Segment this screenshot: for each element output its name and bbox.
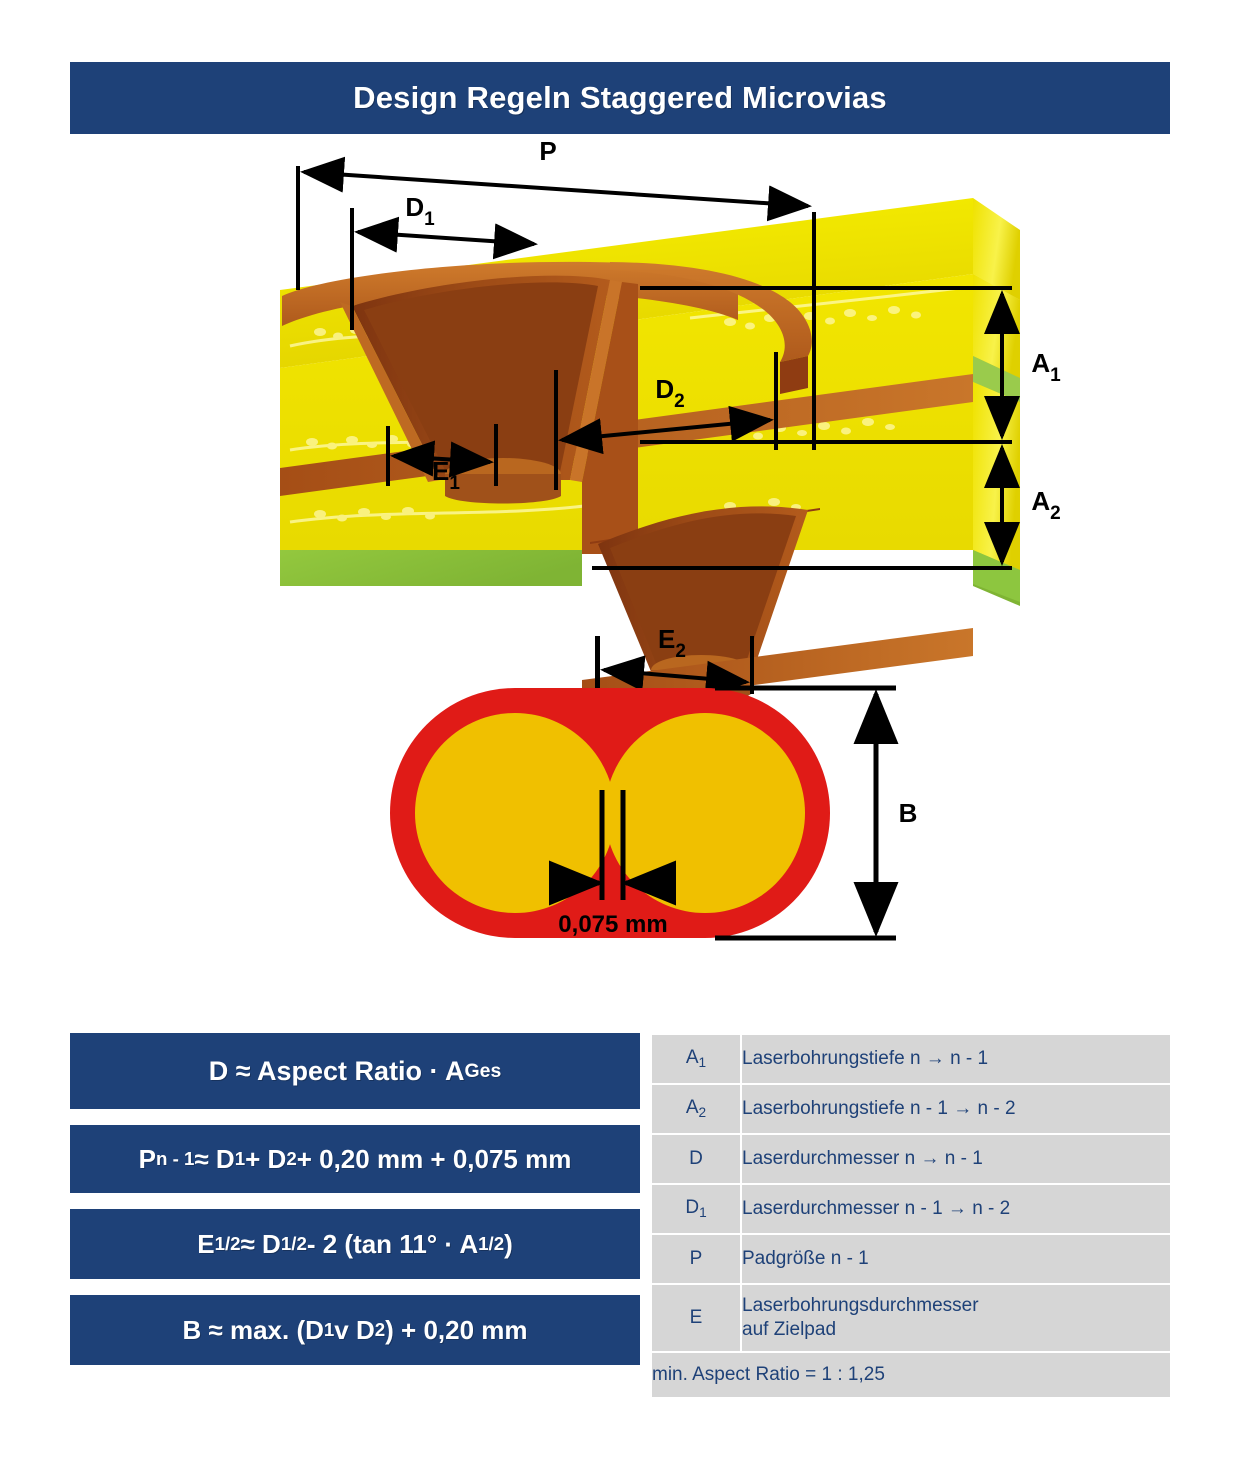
legend-description: Laserbohrungsdurchmesserauf Zielpad	[742, 1285, 1170, 1351]
page-title: Design Regeln Staggered Microvias	[353, 80, 887, 116]
svg-text:D1: D1	[405, 192, 435, 230]
formula-p: Pn - 1 ≈ D1 + D2 + 0,20 mm + 0,075 mm	[70, 1125, 640, 1193]
legend-description: Laserdurchmesser n - 1 → n - 2	[742, 1185, 1170, 1233]
formula-subscript: 1/2	[215, 1233, 241, 1255]
label-A1: A	[1031, 348, 1050, 378]
legend-description: Laserdurchmesser n → n - 1	[742, 1135, 1170, 1183]
formula-subscript: 1/2	[281, 1233, 307, 1255]
formula-subscript: 2	[286, 1148, 296, 1170]
label-A2: A	[1031, 486, 1050, 516]
legend-table: A1Laserbohrungstiefe n → n - 1A2Laserboh…	[652, 1033, 1170, 1399]
legend-footer-row: min. Aspect Ratio = 1 : 1,25	[652, 1353, 1170, 1397]
formula-subscript: 2	[375, 1319, 385, 1341]
legend-symbol-subscript: 1	[699, 1206, 707, 1221]
formula-subscript: n - 1	[156, 1148, 194, 1170]
label-A2-sub: 2	[1050, 503, 1061, 524]
label-D2: D	[655, 374, 674, 404]
legend-symbol: P	[652, 1235, 742, 1283]
legend-symbol: E	[652, 1285, 742, 1351]
label-D1-sub: 1	[424, 209, 435, 230]
legend-description: Laserbohrungstiefe n - 1 → n - 2	[742, 1085, 1170, 1133]
legend-table-body: A1Laserbohrungstiefe n → n - 1A2Laserboh…	[652, 1035, 1170, 1397]
label-B: B	[899, 798, 918, 828]
legend-footer: min. Aspect Ratio = 1 : 1,25	[652, 1353, 1170, 1397]
legend-symbol-subscript: 2	[699, 1106, 707, 1121]
legend-row: A2Laserbohrungstiefe n - 1 → n - 2	[652, 1085, 1170, 1133]
legend-symbol: D1	[652, 1185, 742, 1233]
formula-subscript: 1	[324, 1319, 334, 1341]
formula-d: D ≈ Aspect Ratio · AGes	[70, 1033, 640, 1109]
label-E2-sub: 2	[675, 641, 686, 662]
formula-subscript: Ges	[465, 1060, 502, 1083]
label-E1: E	[432, 456, 449, 486]
legend-row: DLaserdurchmesser n → n - 1	[652, 1135, 1170, 1183]
legend-symbol: A1	[652, 1035, 742, 1083]
formula-b: B ≈ max. (D1 v D2) + 0,20 mm	[70, 1295, 640, 1365]
legend-symbol-subscript: 1	[699, 1056, 707, 1071]
label-gap: 0,075 mm	[558, 911, 667, 938]
label-P: P	[539, 136, 556, 166]
legend-row: ELaserbohrungsdurchmesserauf Zielpad	[652, 1285, 1170, 1351]
formula-column: D ≈ Aspect Ratio · AGes Pn - 1 ≈ D1 + D2…	[70, 1033, 640, 1365]
legend-row: PPadgröße n - 1	[652, 1235, 1170, 1283]
legend-row: D1Laserdurchmesser n - 1 → n - 2	[652, 1185, 1170, 1233]
label-D2-sub: 2	[674, 391, 685, 412]
legend-description: Laserbohrungstiefe n → n - 1	[742, 1035, 1170, 1083]
legend-symbol: D	[652, 1135, 742, 1183]
staggered-microvia-3d-figure: P D1 D2 E1	[260, 150, 1080, 640]
formula-subscript: 1	[235, 1148, 245, 1170]
label-A1-sub: 1	[1050, 365, 1061, 386]
label-E1-sub: 1	[449, 473, 460, 494]
board-right-perspective-edge	[973, 198, 1020, 602]
legend-description: Padgröße n - 1	[742, 1235, 1170, 1283]
header-bar: Design Regeln Staggered Microvias	[70, 62, 1170, 134]
label-E2: E	[658, 624, 675, 654]
formula-e: E1/2 ≈ D1/2 - 2 (tan 11° · A1/2)	[70, 1209, 640, 1279]
staggered-pad-top-view-figure: 0,075 mm B	[380, 670, 920, 960]
formula-subscript: 1/2	[478, 1233, 504, 1255]
svg-text:A1: A1	[1031, 348, 1061, 386]
legend-symbol: A2	[652, 1085, 742, 1133]
svg-text:A2: A2	[1031, 486, 1060, 524]
legend-row: A1Laserbohrungstiefe n → n - 1	[652, 1035, 1170, 1083]
label-D1: D	[405, 192, 424, 222]
